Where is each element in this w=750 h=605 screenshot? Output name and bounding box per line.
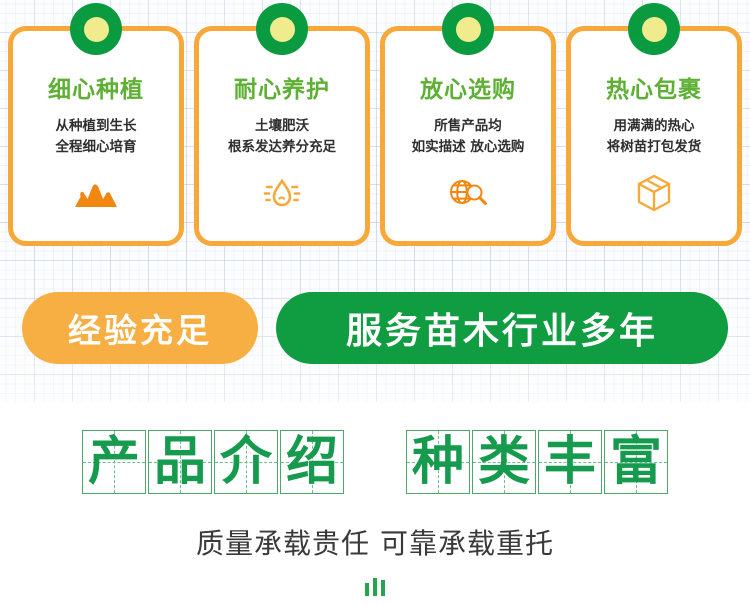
section-tagline: 质量承载贵任 可靠承载重托 (0, 522, 750, 562)
feature-card-shopping[interactable]: 放心选购 所售产品均 如实描述 放心选购 (380, 26, 556, 246)
banner-pill-row: 经验充足 服务苗木行业多年 (0, 288, 750, 368)
card-subtitle-line-2: 全程细心培育 (56, 137, 137, 158)
grid-char: 产 (88, 436, 140, 488)
card-subtitle-line-2: 根系发达养分充足 (228, 137, 336, 158)
feature-card-planting[interactable]: 细心种植 从种植到生长 全程细心培育 (8, 26, 184, 246)
decorative-bar (373, 578, 377, 596)
grid-char-cell: 品 (148, 430, 212, 494)
card-badge-dot-inner (642, 17, 667, 42)
feature-card-packaging[interactable]: 热心包裹 用满满的热心 将树苗打包发货 (566, 26, 742, 246)
section-heading-row: 产 品 介 绍 种 类 丰 (0, 430, 750, 494)
card-subtitle-line-2: 如实描述 放心选购 (412, 137, 525, 158)
grid-char: 类 (478, 436, 530, 488)
grid-char: 丰 (544, 436, 596, 488)
grid-char-cell: 富 (604, 430, 668, 494)
grid-char: 富 (610, 436, 662, 488)
heading-group-variety-rich: 种 类 丰 富 (406, 430, 668, 494)
heading-group-product-intro: 产 品 介 绍 (82, 430, 344, 494)
card-badge-dot-icon (70, 3, 122, 55)
banner-pill-experience[interactable]: 经验充足 (22, 292, 258, 364)
grid-char-cell: 介 (214, 430, 278, 494)
card-subtitle: 所售产品均 如实描述 放心选购 (412, 116, 525, 158)
grid-char-cell: 类 (472, 430, 536, 494)
decorative-bar (365, 583, 369, 596)
card-subtitle-line-2: 将树苗打包发货 (607, 137, 702, 158)
card-badge-dot-icon (442, 3, 494, 55)
card-title: 热心包裹 (606, 79, 702, 102)
card-subtitle: 用满满的热心 将树苗打包发货 (607, 116, 702, 158)
feature-cards-row: 细心种植 从种植到生长 全程细心培育 耐心养护 土壤肥沃 根系发达养分充足 (0, 0, 750, 260)
card-badge-dot-inner (456, 17, 481, 42)
card-subtitle: 从种植到生长 全程细心培育 (56, 116, 137, 158)
globe-search-icon (445, 170, 491, 216)
mountains-icon (73, 170, 119, 216)
card-subtitle-line-1: 所售产品均 (412, 116, 525, 137)
decorative-bar (381, 580, 385, 596)
card-subtitle: 土壤肥沃 根系发达养分充足 (228, 116, 336, 158)
grid-char: 种 (412, 436, 464, 488)
card-badge-dot-inner (84, 17, 109, 42)
bottom-section: 产 品 介 绍 种 类 丰 (0, 402, 750, 605)
card-badge-dot-icon (628, 3, 680, 55)
water-drop-icon (259, 170, 305, 216)
banner-pill-years-of-service[interactable]: 服务苗木行业多年 (276, 292, 728, 364)
card-subtitle-line-1: 土壤肥沃 (228, 116, 336, 137)
card-title: 放心选购 (420, 79, 516, 102)
card-subtitle-line-1: 用满满的热心 (607, 116, 702, 137)
feature-card-nurturing[interactable]: 耐心养护 土壤肥沃 根系发达养分充足 (194, 26, 370, 246)
card-title: 耐心养护 (234, 79, 330, 102)
grid-char: 介 (220, 436, 272, 488)
card-badge-dot-inner (270, 17, 295, 42)
grid-char-cell: 种 (406, 430, 470, 494)
grid-char-cell: 丰 (538, 430, 602, 494)
card-title: 细心种植 (48, 79, 144, 102)
grid-char: 绍 (286, 436, 338, 488)
grid-char: 品 (154, 436, 206, 488)
grid-char-cell: 产 (82, 430, 146, 494)
page-root: 细心种植 从种植到生长 全程细心培育 耐心养护 土壤肥沃 根系发达养分充足 (0, 0, 750, 605)
card-badge-dot-icon (256, 3, 308, 55)
decorative-bars (0, 574, 750, 596)
package-box-icon (631, 170, 677, 216)
grid-char-cell: 绍 (280, 430, 344, 494)
card-subtitle-line-1: 从种植到生长 (56, 116, 137, 137)
